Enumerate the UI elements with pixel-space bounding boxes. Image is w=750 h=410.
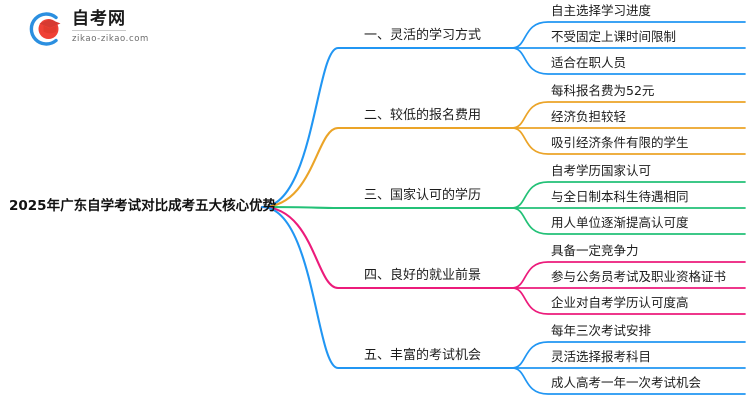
leaf-node-label[interactable]: 灵活选择报考科目 xyxy=(551,349,651,365)
graduation-cap-logo-icon xyxy=(26,10,64,48)
leaf-node-label[interactable]: 每科报名费为52元 xyxy=(551,83,654,99)
leaf-node-label[interactable]: 自主选择学习进度 xyxy=(551,3,651,19)
leaf-node-label[interactable]: 经济负担较轻 xyxy=(551,109,626,125)
connector-line xyxy=(512,48,745,74)
leaf-node-label[interactable]: 企业对自考学历认可度高 xyxy=(551,295,689,311)
leaf-node-label[interactable]: 具备一定竞争力 xyxy=(551,243,639,259)
leaf-node-label[interactable]: 适合在职人员 xyxy=(551,55,626,71)
branch-node-label-4[interactable]: 四、良好的就业前景 xyxy=(364,268,481,284)
branch-node-label-3[interactable]: 三、国家认可的学历 xyxy=(364,188,481,204)
connector-line xyxy=(262,48,512,207)
leaf-node-label[interactable]: 成人高考一年一次考试机会 xyxy=(551,375,701,391)
connector-line xyxy=(262,207,512,368)
leaf-node-label[interactable]: 与全日制本科生待遇相同 xyxy=(551,189,689,205)
leaf-node-label[interactable]: 用人单位逐渐提高认可度 xyxy=(551,215,689,231)
leaf-node-label[interactable]: 不受固定上课时间限制 xyxy=(551,29,676,45)
connector-line xyxy=(262,207,512,208)
mindmap-canvas: 自考网 zikao-zikao.com 2025年广东自学考试对比成考五大核心优… xyxy=(0,0,750,410)
logo-title: 自考网 xyxy=(72,9,126,31)
leaf-node-label[interactable]: 每年三次考试安排 xyxy=(551,323,651,339)
logo-subtitle: zikao-zikao.com xyxy=(72,33,200,45)
connector-line xyxy=(512,102,745,128)
leaf-node-label[interactable]: 吸引经济条件有限的学生 xyxy=(551,135,689,151)
branch-node-label-5[interactable]: 五、丰富的考试机会 xyxy=(364,348,481,364)
leaf-node-label[interactable]: 自考学历国家认可 xyxy=(551,163,651,179)
root-node-label[interactable]: 2025年广东自学考试对比成考五大核心优势 xyxy=(9,198,276,214)
branch-node-label-2[interactable]: 二、较低的报名费用 xyxy=(364,108,481,124)
site-logo[interactable]: 自考网 zikao-zikao.com xyxy=(26,8,201,50)
branch-node-label-1[interactable]: 一、灵活的学习方式 xyxy=(364,28,481,44)
leaf-node-label[interactable]: 参与公务员考试及职业资格证书 xyxy=(551,269,726,285)
